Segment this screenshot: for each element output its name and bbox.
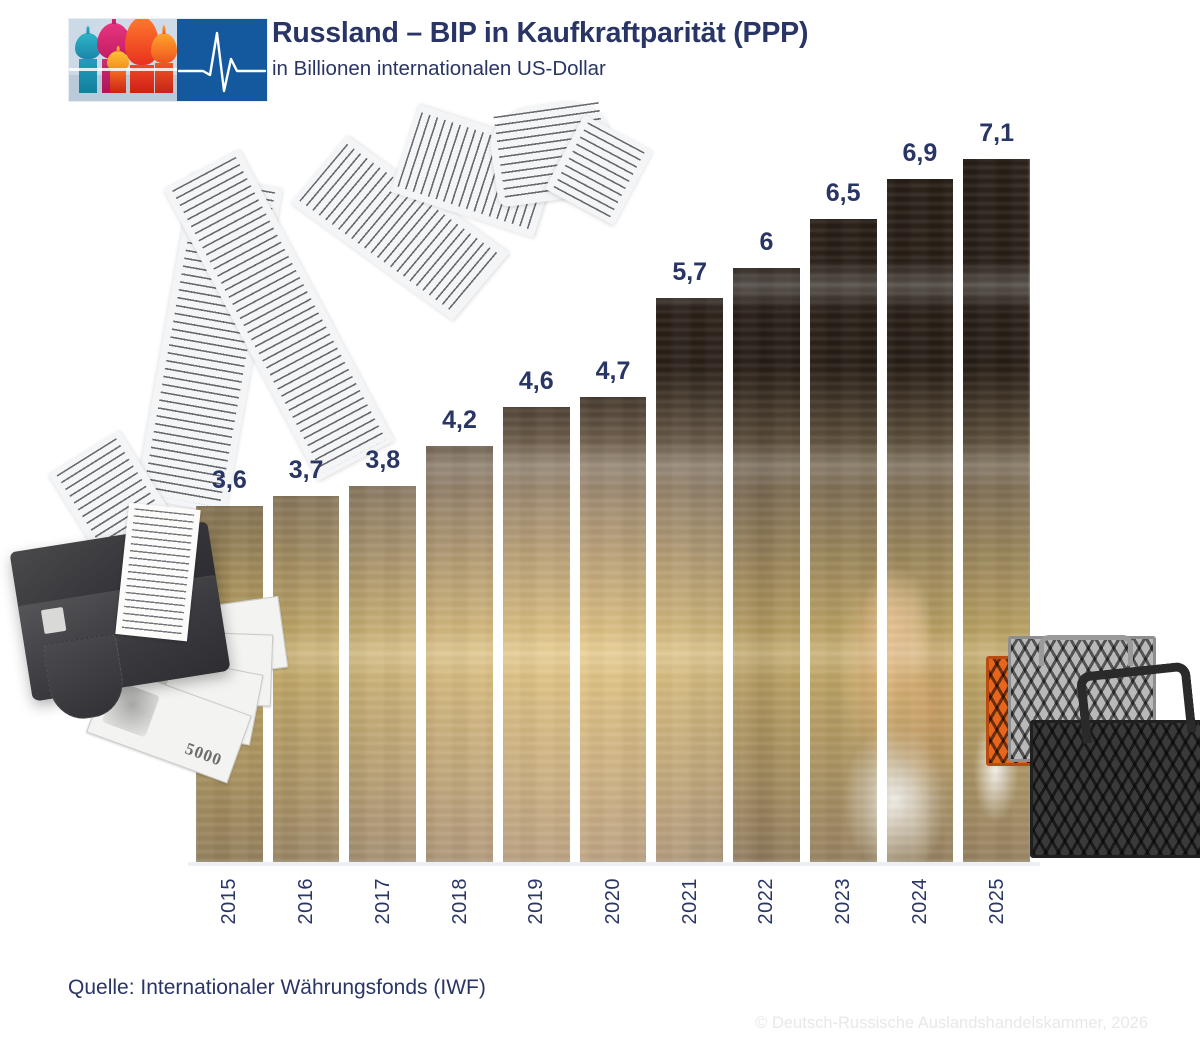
dome-yellow-icon [107, 51, 129, 93]
bar-value-2015: 3,6 [196, 466, 263, 495]
chart-baseline [188, 862, 1040, 866]
bar-photo-shelves [503, 407, 570, 862]
basket-dark [1030, 720, 1200, 858]
logo-horizontal-line [69, 68, 177, 71]
bar-value-2019: 4,6 [503, 367, 570, 396]
bar-photo-shelves [810, 219, 877, 862]
bar-value-2018: 4,2 [426, 406, 493, 435]
bar-photo-shelves [349, 486, 416, 862]
bar-photo-shelves [426, 446, 493, 862]
x-axis-label-2025: 2025 [986, 878, 1009, 925]
x-axis-label-2020: 2020 [602, 878, 625, 925]
infographic-page: Russland – BIP in Kaufkraftparität (PPP)… [0, 0, 1200, 1047]
bar-value-2017: 3,8 [349, 446, 416, 475]
bar-value-2024: 6,9 [887, 139, 954, 168]
basket-handle [1039, 635, 1133, 666]
x-axis-label-2022: 2022 [755, 878, 778, 925]
x-axis-label-2017: 2017 [372, 878, 395, 925]
bar-2019 [503, 407, 570, 862]
x-axis-label-2016: 2016 [295, 878, 318, 925]
wallet-receipt [115, 503, 200, 642]
bar-photo-shelves [656, 298, 723, 862]
bar-2018 [426, 446, 493, 862]
bar-2021 [656, 298, 723, 862]
x-axis-label-2018: 2018 [449, 878, 472, 925]
bar-2023 [810, 219, 877, 862]
bar-2020 [580, 397, 647, 862]
bar-value-2025: 7,1 [963, 119, 1030, 148]
bar-value-2023: 6,5 [810, 179, 877, 208]
x-axis-label-2019: 2019 [525, 878, 548, 925]
bar-2017 [349, 486, 416, 862]
x-axis-label-2015: 2015 [218, 878, 241, 925]
x-axis-label-2024: 2024 [909, 878, 932, 925]
bar-value-2016: 3,7 [273, 456, 340, 485]
shopping-baskets-decoration [1000, 636, 1200, 866]
bar-photo-shelves [733, 268, 800, 862]
bar-photo-shelves [887, 179, 954, 862]
bar-value-2020: 4,7 [580, 357, 647, 386]
bar-2024 [887, 179, 954, 862]
basket-handle [1076, 661, 1197, 744]
bar-photo-shelves [580, 397, 647, 862]
wallet-with-rubles-decoration [14, 528, 314, 798]
bar-value-2022: 6 [733, 228, 800, 257]
wallet-clip [41, 607, 66, 634]
bar-value-2021: 5,7 [656, 258, 723, 287]
copyright-note: © Deutsch-Russische Auslandshandelskamme… [755, 1014, 1148, 1033]
x-axis-label-2021: 2021 [679, 878, 702, 925]
x-axis-label-2023: 2023 [832, 878, 855, 925]
bar-2022 [733, 268, 800, 862]
source-note: Quelle: Internationaler Währungsfonds (I… [68, 976, 486, 1000]
